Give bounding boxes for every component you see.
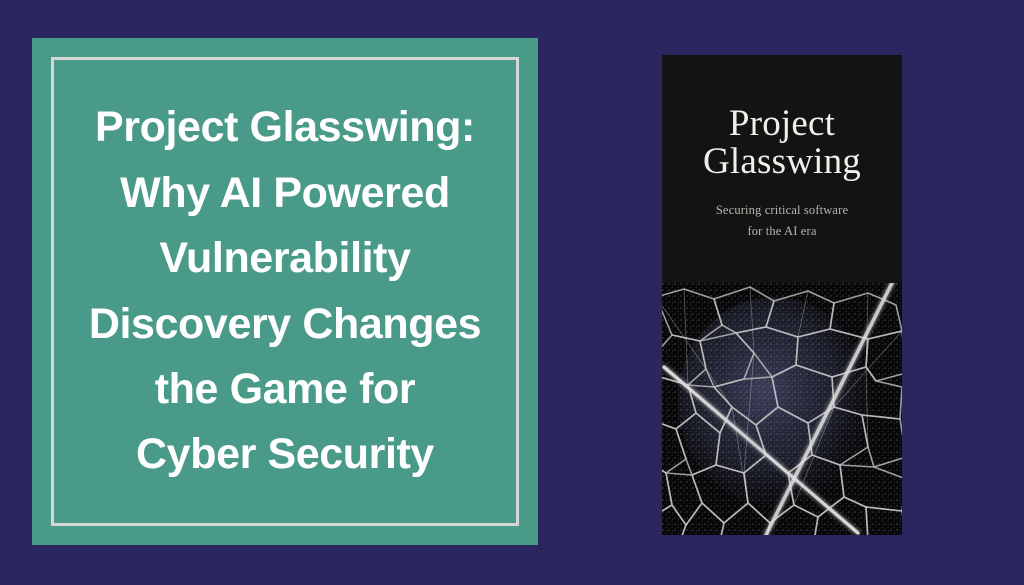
voronoi-wing-pattern-icon xyxy=(662,283,902,535)
book-title: Project Glasswing xyxy=(703,105,861,182)
title-card-inner-border: Project Glasswing: Why AI Powered Vulner… xyxy=(51,57,519,526)
page-title: Project Glasswing: Why AI Powered Vulner… xyxy=(75,95,495,487)
book-cover: Project Glasswing Securing critical soft… xyxy=(662,55,902,535)
book-cover-text-block: Project Glasswing Securing critical soft… xyxy=(662,55,902,283)
article-title-card: Project Glasswing: Why AI Powered Vulner… xyxy=(32,38,538,545)
page-canvas: Project Glasswing: Why AI Powered Vulner… xyxy=(0,0,1024,585)
book-subtitle: Securing critical software for the AI er… xyxy=(716,200,848,241)
